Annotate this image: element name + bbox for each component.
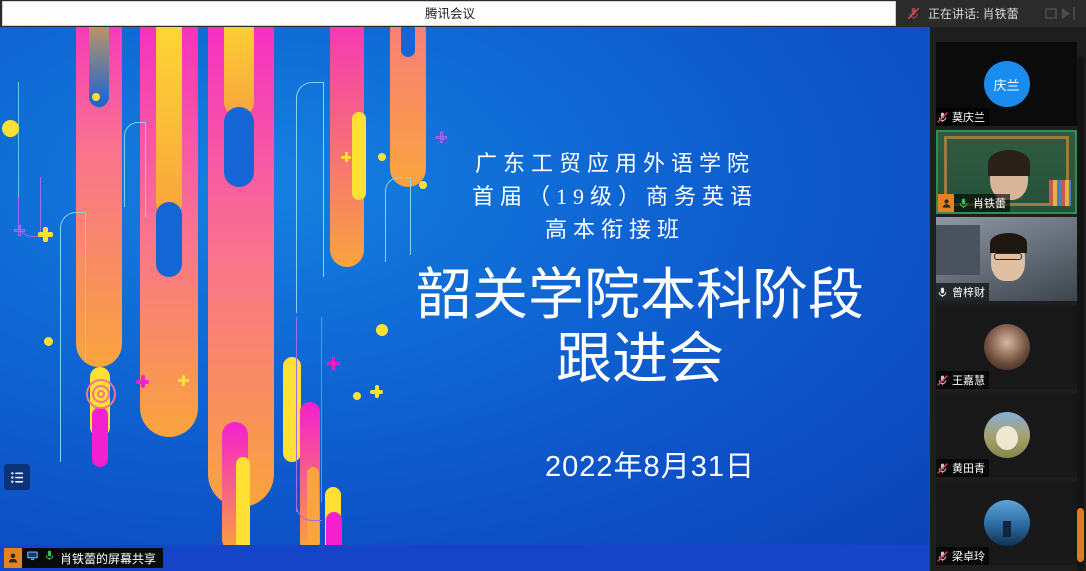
tile-video-books [1049, 180, 1071, 206]
deco-dot [92, 93, 100, 101]
deco-line [145, 122, 146, 217]
slide-subtitle-line-1: 广东工贸应用外语学院 [380, 147, 850, 180]
participant-rail[interactable]: 庆兰 莫庆兰 [930, 27, 1086, 571]
mic-active-icon [957, 197, 970, 210]
deco-plus [136, 375, 149, 388]
tile-video-glasses [994, 253, 1022, 260]
participant-namebar: 梁卓玲 [936, 547, 989, 565]
deco-bar [236, 457, 250, 545]
slide-subtitle-line-3: 高本衔接班 [380, 213, 850, 246]
mic-muted-icon [936, 550, 949, 563]
deco-dot [2, 120, 19, 137]
deco-line [85, 212, 86, 362]
tile-video-bunk [936, 225, 980, 275]
deco-plus [178, 375, 189, 386]
avatar-initials: 庆兰 [993, 75, 1019, 94]
participant-name: 梁卓玲 [952, 548, 985, 564]
window-title: 腾讯会议 [3, 2, 897, 27]
participant-tile[interactable]: 庆兰 莫庆兰 [936, 42, 1077, 126]
person-icon [4, 548, 22, 568]
scrollbar-thumb[interactable] [1077, 508, 1084, 562]
deco-line [321, 317, 322, 502]
title-bar: 腾讯会议 正在讲话: 肖铁蕾 [0, 0, 1086, 27]
screen-share-indicator[interactable]: 肖铁蕾的屏幕共享 [4, 548, 163, 568]
deco-bar [224, 107, 254, 187]
deco-hook [296, 487, 322, 521]
participant-name: 莫庆兰 [952, 109, 985, 125]
deco-line [296, 317, 297, 512]
deco-bar [224, 27, 254, 117]
deco-bar [352, 155, 366, 200]
participant-name: 黄田青 [952, 460, 985, 476]
participant-name: 曾梓财 [952, 284, 985, 300]
deco-dot [353, 392, 361, 400]
deco-bar [283, 357, 301, 462]
mic-active-icon [936, 286, 949, 299]
deco-hook [60, 212, 86, 246]
person-icon [938, 194, 954, 212]
slide-subtitle-line-2: 首届（19级）商务英语 [380, 180, 850, 213]
deco-line [18, 82, 19, 197]
participant-name: 王嘉慧 [952, 372, 985, 388]
deco-plus [14, 225, 25, 236]
monitor-icon [26, 549, 39, 567]
meeting-window: 腾讯会议 正在讲话: 肖铁蕾 [0, 0, 1086, 571]
slide-title-line-1: 韶关学院本科阶段 [360, 265, 920, 327]
collapse-arrows-icon[interactable] [1040, 4, 1082, 23]
deco-bar [156, 27, 182, 217]
deco-hook [124, 122, 146, 152]
deco-plus [436, 132, 447, 143]
slide-title-line-2: 跟进会 [360, 329, 920, 391]
participant-tile[interactable]: 王嘉慧 [936, 305, 1077, 389]
participant-namebar: 黄田青 [936, 459, 989, 477]
avatar [984, 500, 1030, 546]
avatar-photo-subject [996, 426, 1018, 450]
deco-bar [92, 407, 108, 467]
slide-date: 2022年8月31日 [400, 443, 900, 485]
deco-plus [327, 357, 340, 370]
mic-muted-icon [936, 374, 949, 387]
deco-bar [401, 27, 415, 57]
avatar [984, 412, 1030, 458]
participant-tile[interactable]: 梁卓玲 [936, 481, 1077, 565]
deco-line [323, 82, 324, 277]
avatar-photo-subject [1003, 521, 1011, 537]
participant-namebar: 莫庆兰 [936, 108, 989, 126]
participant-namebar: 王嘉慧 [936, 371, 989, 389]
presentation-slide: 广东工贸应用外语学院 首届（19级）商务英语 高本衔接班 韶关学院本科阶段 跟进… [0, 27, 930, 545]
mic-muted-icon [906, 6, 921, 21]
participant-name: 肖铁蕾 [973, 195, 1006, 211]
participant-tile[interactable]: 肖铁蕾 [936, 130, 1077, 214]
participant-namebar: 曾梓财 [936, 283, 989, 301]
deco-bar [156, 202, 182, 277]
screen-share-label: 肖铁蕾的屏幕共享 [60, 550, 156, 567]
participant-scrollbar[interactable] [1077, 56, 1084, 571]
speaking-label: 正在讲话: 肖铁蕾 [928, 5, 1019, 22]
deco-spiral [97, 390, 105, 398]
mic-active-icon [43, 549, 56, 567]
deco-bar [326, 512, 342, 545]
deco-dot [44, 337, 53, 346]
deco-line [60, 242, 61, 462]
participant-tile[interactable]: 曾梓财 [936, 217, 1077, 301]
avatar: 庆兰 [984, 61, 1030, 107]
deco-line [124, 147, 125, 207]
title-bar-main: 腾讯会议 [2, 1, 896, 26]
deco-line [296, 113, 297, 313]
mic-muted-icon [936, 111, 949, 124]
deco-plus [38, 227, 53, 242]
speaking-indicator: 正在讲话: 肖铁蕾 [898, 0, 1086, 27]
participant-tile[interactable]: 黄田青 [936, 393, 1077, 477]
tile-video-hair [988, 150, 1030, 176]
mic-muted-icon [936, 462, 949, 475]
avatar [984, 324, 1030, 370]
participant-namebar: 肖铁蕾 [938, 194, 1010, 212]
tile-video-hair [990, 233, 1027, 253]
shared-screen-stage[interactable]: 广东工贸应用外语学院 首届（19级）商务英语 高本衔接班 韶关学院本科阶段 跟进… [0, 27, 930, 545]
list-menu-icon[interactable] [4, 464, 30, 490]
taskbar: 肖铁蕾的屏幕共享 [0, 545, 930, 571]
deco-hook [296, 82, 324, 118]
deco-plus [341, 152, 351, 162]
